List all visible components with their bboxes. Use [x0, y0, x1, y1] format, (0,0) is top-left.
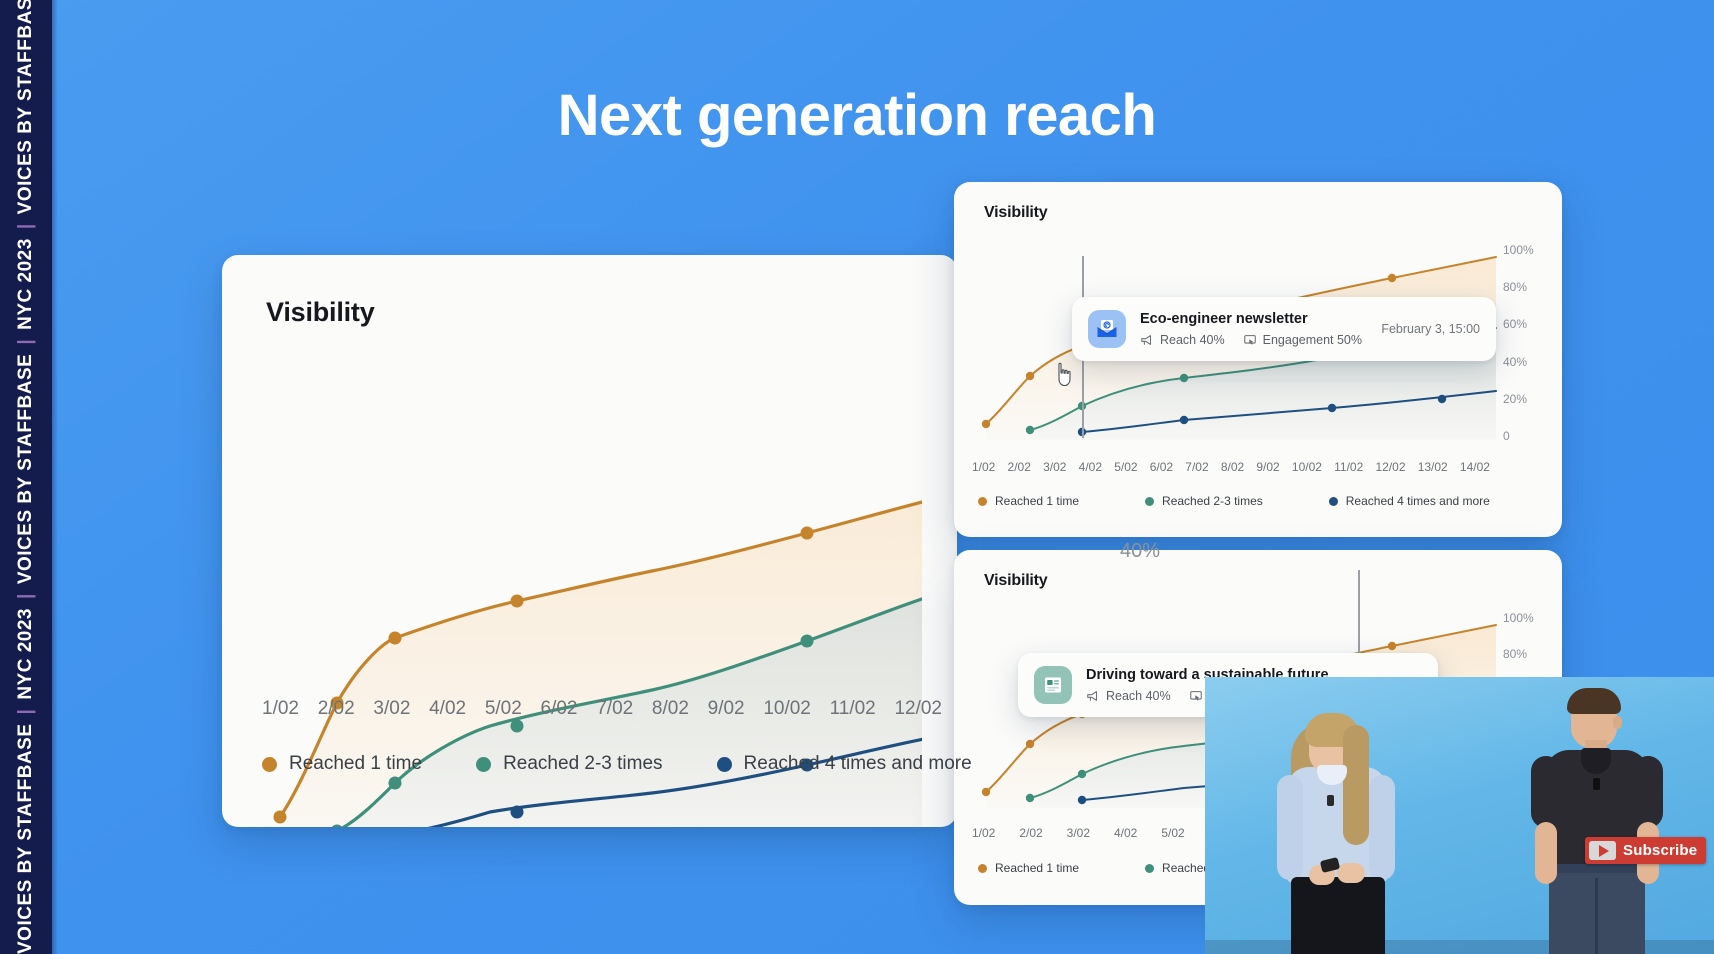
data-point — [389, 632, 402, 645]
x-tick: 9/02 — [1256, 460, 1279, 474]
presenter-woman — [1265, 699, 1415, 954]
legend-item-reached-4[interactable]: Reached 4 times and more — [1329, 494, 1490, 508]
legend-label: Reached 4 times and more — [1346, 494, 1490, 508]
main-chart-x-axis: 1/02 2/02 3/02 4/02 5/02 6/02 7/02 8/02 … — [262, 698, 942, 720]
x-tick: 11/02 — [1334, 460, 1363, 474]
rail-brand-1: VOICES BY STAFFBASE — [15, 724, 36, 954]
x-tick: 11/02 — [830, 698, 876, 720]
tooltip-meta: Reach 40% Engagement 50% — [1140, 333, 1362, 347]
x-tick: 3/02 — [1043, 460, 1066, 474]
x-tick: 6/02 — [1150, 460, 1173, 474]
data-point — [1180, 374, 1188, 382]
card-title-main: Visibility — [266, 297, 375, 328]
x-tick: 1/02 — [972, 460, 995, 474]
y-tick: 60% — [1503, 317, 1534, 331]
y-tick: 80% — [1503, 647, 1534, 661]
x-tick: 14/02 — [1460, 460, 1490, 474]
data-point — [1180, 416, 1188, 424]
data-point — [1438, 395, 1446, 403]
y-tick: 0 — [1503, 429, 1534, 443]
legend-label: Reached 2-3 times — [1162, 494, 1263, 508]
x-tick: 8/02 — [652, 698, 689, 720]
y-tick: 80% — [1503, 280, 1534, 294]
data-point — [511, 595, 524, 608]
data-point — [274, 811, 287, 824]
man-waistband — [1549, 864, 1645, 873]
x-tick: 5/02 — [485, 698, 522, 720]
data-point — [1026, 740, 1034, 748]
man-jeans-seam — [1595, 878, 1598, 954]
rail-brand-2: VOICES BY STAFFBASE — [15, 354, 36, 585]
slide-stage: VOICES BY STAFFBASE|NYC 2023|VOICES BY S… — [0, 0, 1714, 954]
man-ear — [1613, 716, 1622, 729]
x-tick: 7/02 — [596, 698, 633, 720]
chart-tooltip-top[interactable]: Eco-engineer newsletter Reach 40% Engage… — [1072, 297, 1496, 361]
legend-item-reached-2-3[interactable]: Reached 2-3 times — [1145, 494, 1263, 508]
cursor-pointer-icon — [1055, 362, 1077, 388]
legend-label: Reached 4 times and more — [744, 753, 972, 775]
x-tick: 2/02 — [1008, 460, 1031, 474]
megaphone-icon — [1086, 689, 1100, 703]
man-sleeve-right — [1633, 756, 1663, 828]
rail-separator-4: | — [15, 223, 36, 229]
rail-separator-2: | — [15, 593, 36, 599]
legend-dot-icon — [476, 757, 491, 772]
legend-dot-icon — [1329, 497, 1338, 506]
x-tick: 3/02 — [1067, 826, 1090, 840]
rail-separator-3: | — [15, 339, 36, 345]
woman-hand-right — [1337, 863, 1365, 883]
data-point — [1388, 642, 1396, 650]
tooltip-title: Eco-engineer newsletter — [1140, 311, 1362, 327]
presenter-man — [1525, 682, 1675, 954]
tooltip-engagement-label: Engagement 50% — [1263, 333, 1362, 347]
data-point — [982, 420, 990, 428]
x-tick: 3/02 — [373, 698, 410, 720]
x-tick: 4/02 — [1079, 460, 1102, 474]
man-arm-left — [1535, 822, 1557, 884]
x-tick: 2/02 — [1019, 826, 1042, 840]
woman-skirt — [1291, 877, 1385, 954]
x-tick: 9/02 — [708, 698, 745, 720]
y-tick: 20% — [1503, 392, 1534, 406]
bottom-right-chart-x-axis: 1/02 2/02 3/02 4/02 5/02 6/02 — [972, 826, 1232, 840]
tooltip-date: February 3, 15:00 — [1381, 322, 1480, 336]
tooltip-reach-label: Reach 40% — [1106, 689, 1171, 703]
legend-item-reached-1[interactable]: Reached 1 time — [978, 861, 1079, 875]
man-lapel-mic-icon — [1593, 778, 1600, 790]
data-point — [1026, 426, 1034, 434]
data-point — [511, 806, 524, 819]
data-point — [1388, 274, 1396, 282]
bottom-right-chart-y-axis: 100% 80% — [1503, 611, 1534, 661]
data-point — [1078, 796, 1086, 804]
tooltip-engagement: Engagement 50% — [1243, 333, 1362, 347]
top-right-chart-x-axis: 1/02 2/02 3/02 4/02 5/02 6/02 7/02 8/02 … — [972, 460, 1490, 474]
data-point — [1078, 770, 1086, 778]
tooltip-reach-label: Reach 40% — [1160, 333, 1225, 347]
subscribe-button[interactable]: Subscribe — [1585, 837, 1706, 864]
email-newsletter-icon — [1088, 310, 1126, 348]
data-point — [511, 720, 524, 733]
legend-label: Reached 1 time — [289, 753, 422, 775]
legend-dot-icon — [1145, 497, 1154, 506]
article-page-glyph — [1042, 674, 1064, 696]
x-tick: 13/02 — [1418, 460, 1448, 474]
article-page-icon — [1034, 666, 1072, 704]
screen-click-icon — [1243, 333, 1257, 347]
legend-dot-icon — [717, 757, 732, 772]
x-tick: 8/02 — [1221, 460, 1244, 474]
top-right-chart-y-axis: 100% 80% 60% 40% 20% 0 — [1503, 243, 1534, 443]
x-tick: 1/02 — [972, 826, 995, 840]
y-tick: 100% — [1503, 243, 1534, 257]
rail-event-2: NYC 2023 — [15, 238, 36, 330]
subscribe-label: Subscribe — [1623, 842, 1697, 859]
woman-lapel-mic-icon — [1327, 795, 1334, 806]
legend-dot-icon — [978, 864, 987, 873]
data-point — [1026, 372, 1034, 380]
data-point — [1026, 794, 1034, 802]
x-tick: 12/02 — [1375, 460, 1405, 474]
man-hair — [1567, 688, 1621, 714]
legend-item-reached-4[interactable]: Reached 4 times and more — [717, 753, 972, 775]
legend-item-reached-1[interactable]: Reached 1 time — [262, 753, 422, 775]
megaphone-icon — [1140, 333, 1154, 347]
x-tick: 10/02 — [763, 698, 811, 720]
x-tick: 5/02 — [1161, 826, 1184, 840]
x-tick: 6/02 — [541, 698, 578, 720]
data-point — [1328, 404, 1336, 412]
data-point — [389, 777, 402, 790]
x-tick: 2/02 — [318, 698, 355, 720]
x-tick: 12/02 — [894, 698, 942, 720]
tooltip-reach: Reach 40% — [1086, 689, 1171, 703]
tooltip-body-top: Eco-engineer newsletter Reach 40% Engage… — [1140, 311, 1362, 347]
presenter-video-overlay[interactable]: Subscribe — [1205, 677, 1714, 954]
x-tick: 5/02 — [1114, 460, 1137, 474]
email-newsletter-glyph — [1095, 317, 1119, 341]
screen-click-icon — [1189, 689, 1203, 703]
legend-dot-icon — [1145, 864, 1154, 873]
legend-label: Reached 1 time — [995, 861, 1079, 875]
x-tick: 10/02 — [1292, 460, 1322, 474]
data-point — [801, 527, 814, 540]
main-chart-y-tick-partial: 40% — [1120, 540, 1160, 563]
visibility-card-main: Visibility — [222, 255, 957, 827]
woman-hair-side — [1343, 725, 1369, 845]
x-tick: 4/02 — [429, 698, 466, 720]
legend-label: Reached 1 time — [995, 494, 1079, 508]
man-sleeve-left — [1531, 756, 1561, 828]
y-tick: 100% — [1503, 611, 1534, 625]
legend-dot-icon — [262, 757, 277, 772]
x-tick: 1/02 — [262, 698, 299, 720]
tooltip-reach: Reach 40% — [1140, 333, 1225, 347]
woman-arm-right — [1369, 775, 1395, 880]
x-tick: 4/02 — [1114, 826, 1137, 840]
card-title-bottom-right: Visibility — [984, 572, 1048, 590]
woman-arm-left — [1277, 775, 1303, 880]
main-chart-legend: Reached 1 time Reached 2-3 times Reached… — [262, 753, 972, 775]
legend-label: Reached 2-3 times — [503, 753, 662, 775]
legend-item-reached-2-3[interactable]: Reached 2-3 times — [476, 753, 662, 775]
card-title-top-right: Visibility — [984, 204, 1048, 222]
y-tick: 40% — [1503, 355, 1534, 369]
youtube-play-icon — [1589, 841, 1616, 860]
legend-item-reached-1[interactable]: Reached 1 time — [978, 494, 1079, 508]
rail-separator-1: | — [15, 709, 36, 715]
data-point — [982, 788, 990, 796]
page-title: Next generation reach — [0, 82, 1714, 149]
top-right-chart-legend: Reached 1 time Reached 2-3 times Reached… — [978, 494, 1490, 508]
rail-event-1: NYC 2023 — [15, 608, 36, 700]
data-point — [801, 635, 814, 648]
legend-dot-icon — [978, 497, 987, 506]
x-tick: 7/02 — [1185, 460, 1208, 474]
